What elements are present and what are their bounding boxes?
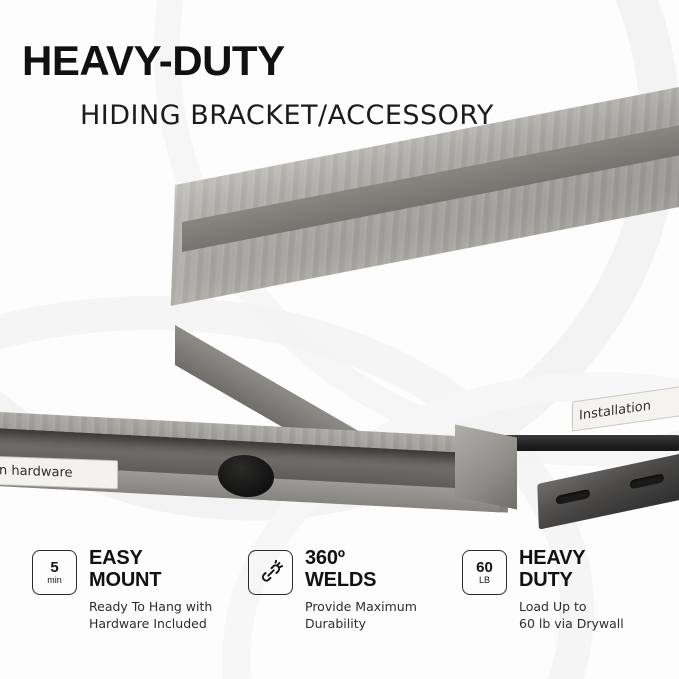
feature-easy-mount-headline: EASY MOUNT: [89, 548, 212, 591]
bracket-wall-plate: [537, 452, 679, 529]
feature-heavy-duty-sub: Load Up to 60 lb via Drywall: [519, 599, 624, 632]
weight-badge-icon: 60 LB: [462, 550, 507, 595]
header: HEAVY-DUTY HIDING BRACKET/ACCESSORY: [22, 40, 494, 131]
weight-badge-value: 60: [476, 560, 493, 576]
page-subtitle: HIDING BRACKET/ACCESSORY: [80, 100, 494, 131]
shelf-product-photo: Installation: [0, 150, 679, 410]
installation-label-card: Installation: [572, 384, 679, 431]
shelf-channel-photo: on hardware: [0, 415, 540, 530]
feature-row: 5 min EASY MOUNT Ready To Hang with Hard…: [0, 548, 679, 668]
feature-welds-headline: 360º WELDS: [305, 548, 417, 591]
timer-badge-value: 5: [50, 560, 58, 576]
weight-badge-unit: LB: [479, 576, 490, 585]
feature-welds-text: 360º WELDS Provide Maximum Durability: [305, 548, 417, 632]
feature-easy-mount: 5 min EASY MOUNT Ready To Hang with Hard…: [32, 548, 248, 668]
feature-welds-sub: Provide Maximum Durability: [305, 599, 417, 632]
bracket-slot-left: [556, 489, 590, 505]
page-title: HEAVY-DUTY: [22, 40, 494, 82]
weld-link-icon: [248, 550, 293, 595]
hardware-label-card: on hardware: [0, 456, 118, 490]
timer-badge-icon: 5 min: [32, 550, 77, 595]
feature-heavy-duty-headline: HEAVY DUTY: [519, 548, 624, 591]
bracket-slot-right: [630, 473, 664, 489]
feature-welds: 360º WELDS Provide Maximum Durability: [248, 548, 448, 668]
feature-heavy-duty: 60 LB HEAVY DUTY Load Up to 60 lb via Dr…: [462, 548, 662, 668]
feature-easy-mount-sub: Ready To Hang with Hardware Included: [89, 599, 212, 632]
installation-label-text: Installation: [573, 398, 651, 424]
feature-heavy-duty-text: HEAVY DUTY Load Up to 60 lb via Drywall: [519, 548, 624, 632]
hardware-label-text: on hardware: [0, 463, 73, 481]
timer-badge-unit: min: [47, 576, 62, 585]
channel-end-cap: [455, 424, 517, 509]
product-infographic: HEAVY-DUTY HIDING BRACKET/ACCESSORY Inst…: [0, 0, 679, 679]
feature-easy-mount-text: EASY MOUNT Ready To Hang with Hardware I…: [89, 548, 212, 632]
